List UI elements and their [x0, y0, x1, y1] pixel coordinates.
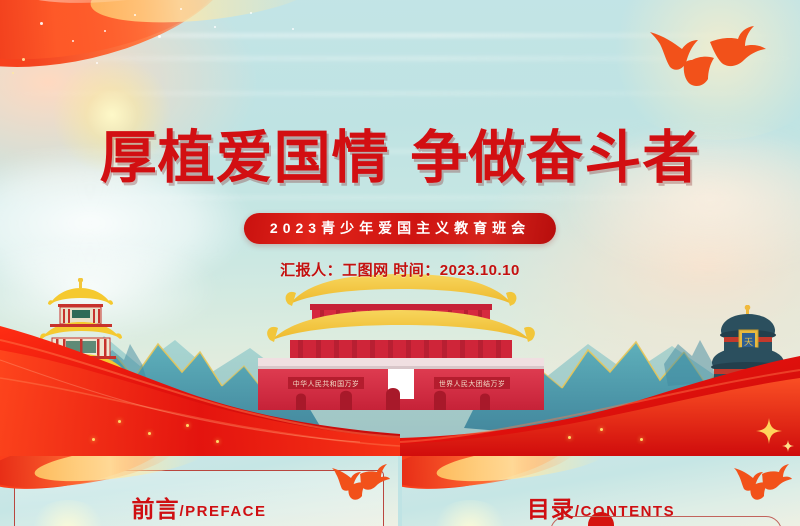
- sparkle-dot: [292, 28, 294, 30]
- sparkle-dot: [40, 22, 43, 25]
- sparkle-dot: [96, 62, 98, 64]
- slide-title: 厚植爱国情 争做奋斗者: [0, 112, 800, 194]
- gold-particle: [216, 440, 219, 443]
- gold-particle: [568, 436, 571, 439]
- dove-icon: [360, 464, 390, 490]
- presenter-date-line: 汇报人：工图网 时间：2023.10.10: [0, 259, 800, 280]
- dove-flock: [648, 16, 778, 96]
- sparkle-star-icon: [756, 418, 782, 444]
- ppt-template-preview: 天: [0, 0, 800, 526]
- gold-particle: [640, 438, 643, 441]
- thumbnail-label: 目录/CONTENTS: [402, 490, 800, 524]
- sparkle-dot: [250, 12, 252, 14]
- red-silk-ribbon-icon: [0, 316, 800, 456]
- sparkle-dot: [158, 35, 161, 38]
- sparkle-star-icon: [782, 440, 794, 452]
- sparkle-dot: [22, 58, 25, 61]
- thumbnail-strip: 前言/PREFACE 目录/CONTENTS: [0, 456, 800, 526]
- dove-icon: [710, 26, 766, 66]
- sparkle-dot: [180, 8, 182, 10]
- sparkle-dot: [72, 40, 74, 42]
- thumbnail-preface[interactable]: 前言/PREFACE: [0, 456, 398, 526]
- gold-particle: [600, 428, 603, 431]
- sparkle-dot: [214, 26, 216, 28]
- gold-particle: [148, 432, 151, 435]
- thumbnail-label-cn: 前言: [131, 497, 179, 523]
- gold-particle: [118, 420, 121, 423]
- thumbnail-label: 前言/PREFACE: [0, 490, 398, 524]
- gold-particle: [92, 438, 95, 441]
- dove-icon: [762, 464, 792, 490]
- gold-particle: [186, 424, 189, 427]
- sparkle-dot: [134, 14, 136, 16]
- sparkle-dot: [12, 72, 14, 74]
- thumbnail-label-en: CONTENTS: [581, 503, 676, 520]
- thumbnail-label-en: PREFACE: [185, 503, 266, 520]
- sparkle-dot: [104, 30, 106, 32]
- thumbnail-label-cn: 目录: [527, 497, 575, 523]
- dove-icon: [684, 57, 714, 86]
- thumbnail-contents[interactable]: 目录/CONTENTS: [402, 456, 800, 526]
- hero-slide[interactable]: 天: [0, 0, 800, 456]
- subtitle-pill-badge: 2023青少年爱国主义教育班会: [244, 213, 556, 244]
